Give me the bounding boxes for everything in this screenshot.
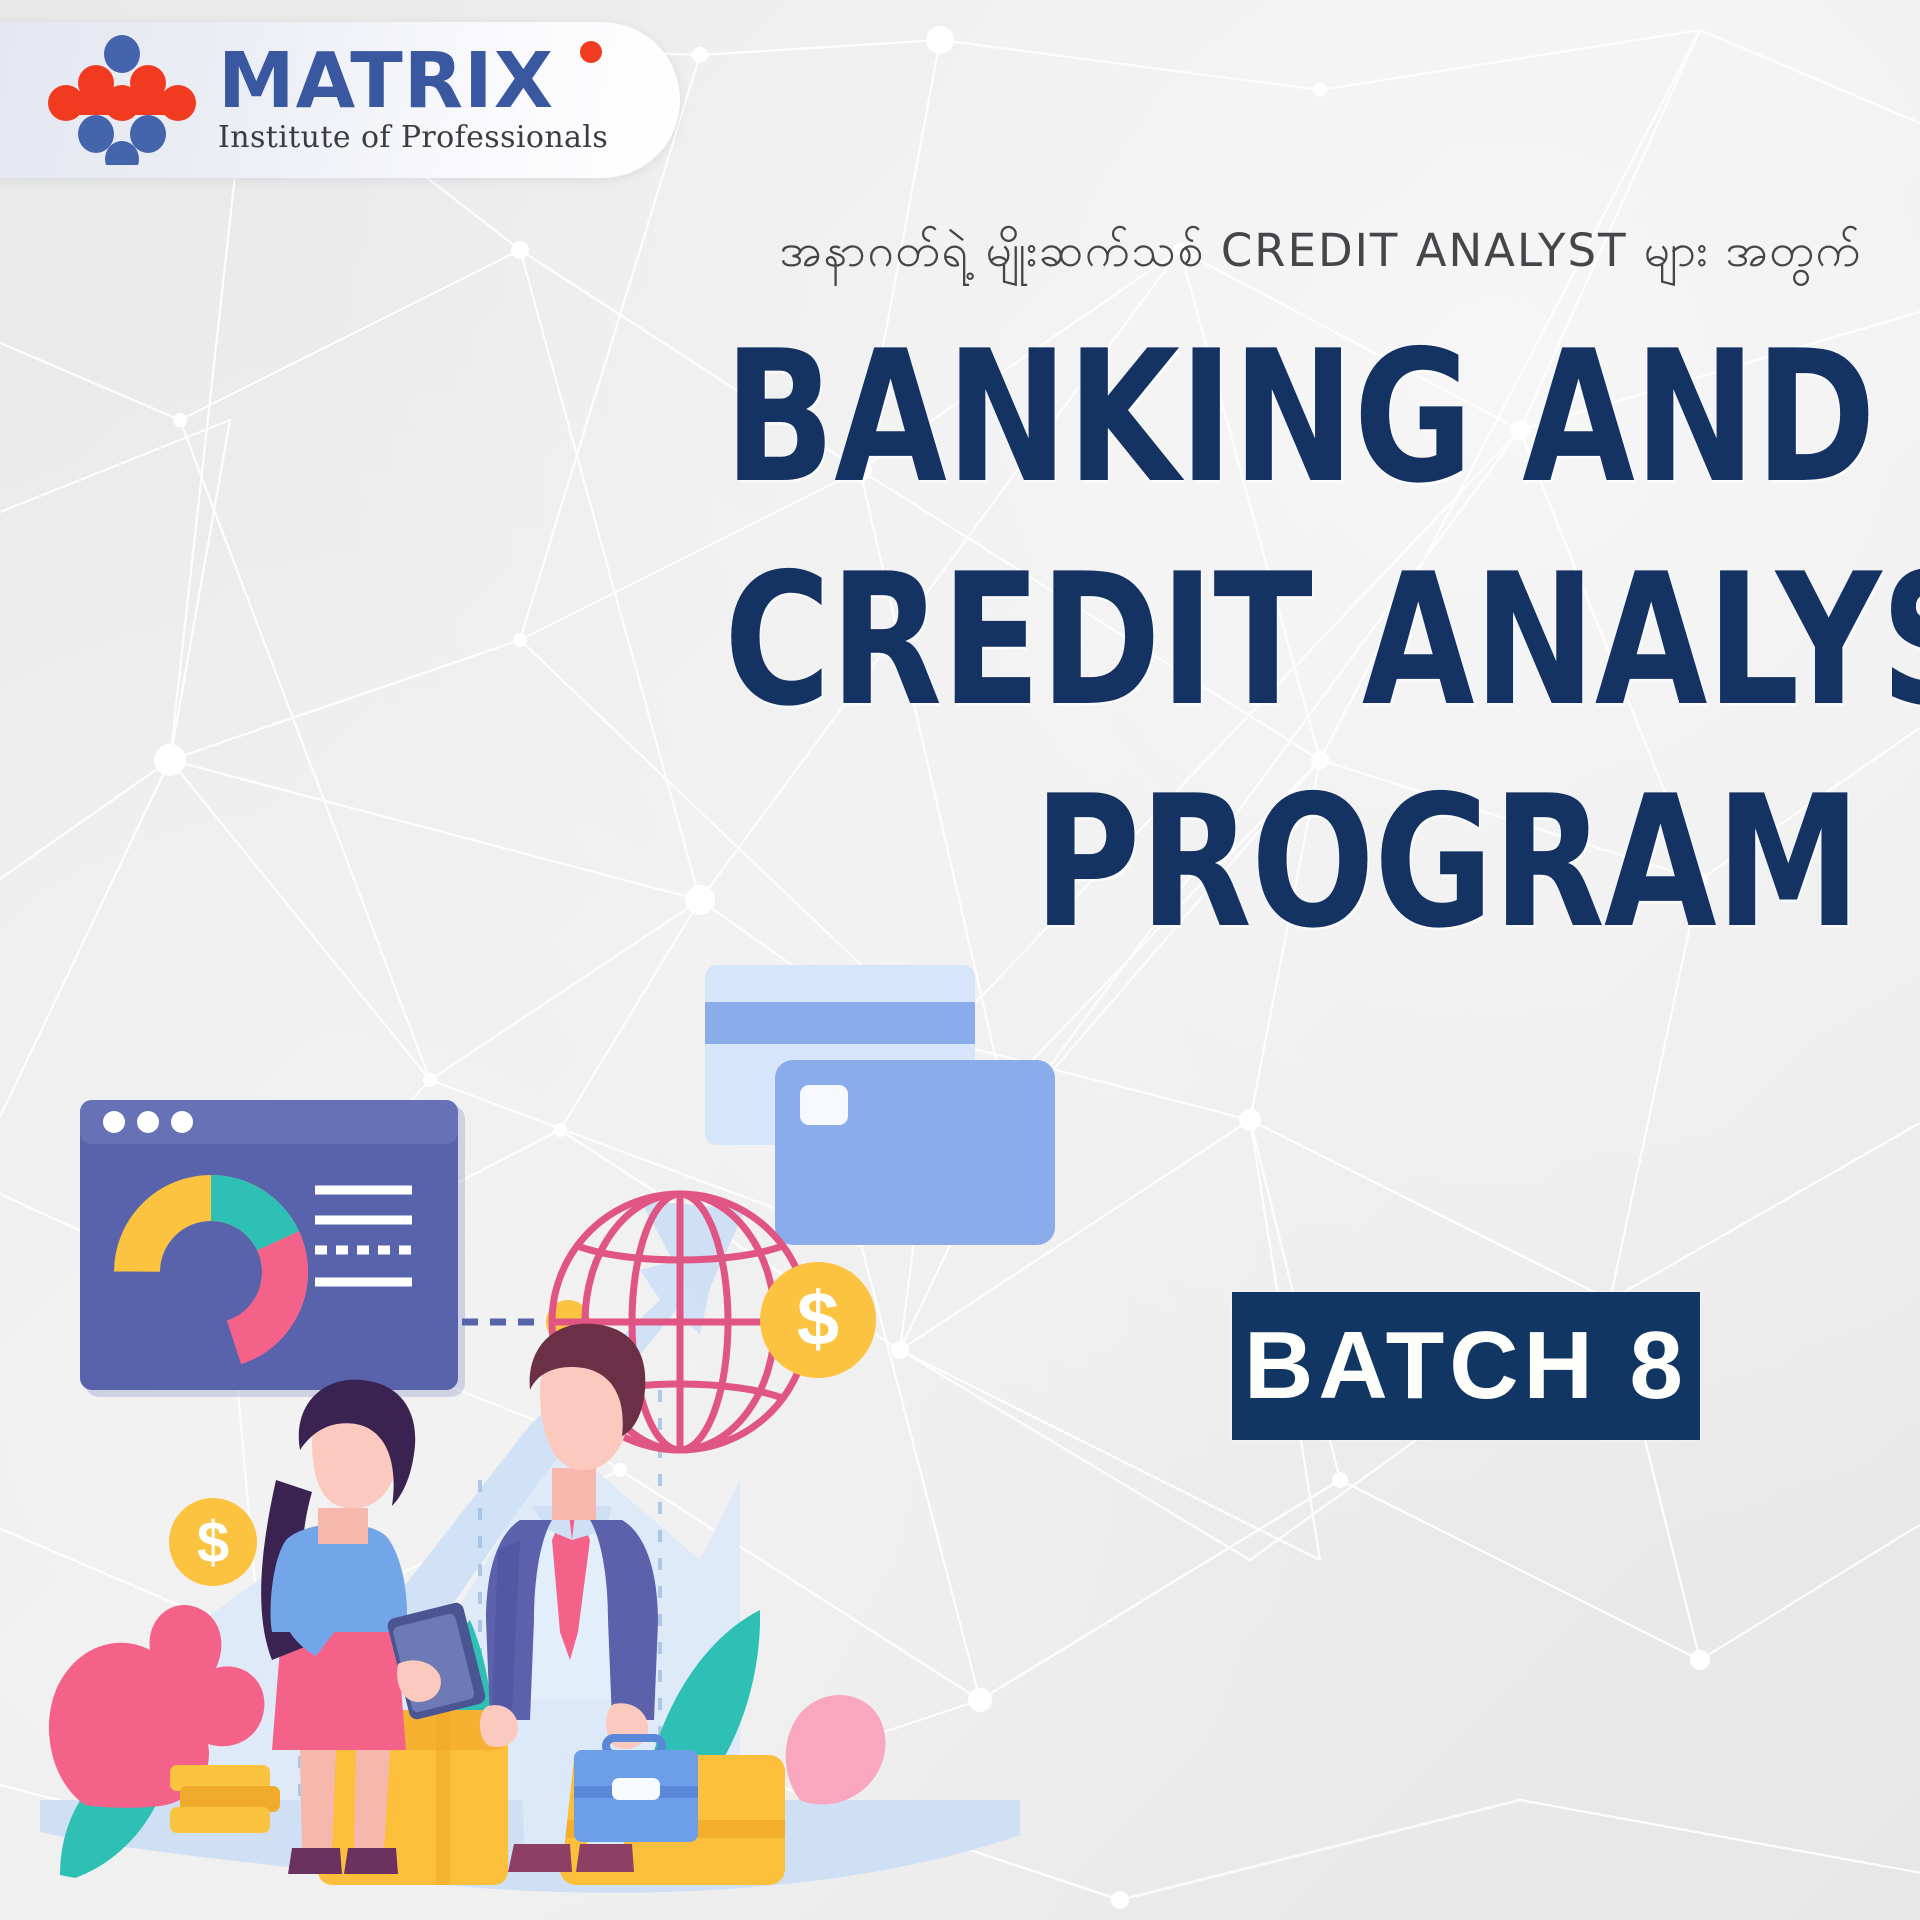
woman-leg-right [354, 1750, 390, 1852]
analytics-dashboard-window [80, 1100, 465, 1397]
brand-name: MATRIX [218, 45, 608, 119]
brand-logo-pill: MATRIX Institute of Professionals [0, 22, 680, 178]
logo-red-dot-icon [580, 41, 602, 63]
woman-leg-left [300, 1750, 336, 1852]
tagline-english: CREDIT ANALYST [1221, 224, 1628, 277]
window-dots [103, 1111, 193, 1133]
dollar-coin-small-icon: $ [169, 1498, 257, 1586]
headline-line-1: BANKING AND [724, 330, 1860, 505]
svg-text:$: $ [197, 1510, 229, 1575]
woman-neck [318, 1508, 368, 1544]
dollar-coin-large-icon: $ [760, 1262, 876, 1378]
batch-badge-label: BATCH 8 [1244, 1311, 1688, 1421]
poster-canvas: MATRIX Institute of Professionals အနာဂတ်… [0, 0, 1920, 1920]
page-title: BANKING AND CREDIT ANALYST PROGRAM [440, 330, 1860, 950]
man-shoe-left [508, 1844, 572, 1872]
finance-analytics-illustration: $ [0, 920, 1060, 1920]
man-neck [552, 1468, 596, 1520]
coin-stack-icon [170, 1765, 280, 1833]
credit-card-front-icon [775, 1060, 1055, 1245]
tagline-burmese-after: များ အတွက် [1644, 223, 1862, 277]
briefcase-icon [574, 1738, 698, 1842]
tagline: အနာဂတ်ရဲ့ မျိုးဆက်သစ် CREDIT ANALYST မျာ… [0, 222, 1862, 289]
svg-text:$: $ [797, 1277, 839, 1362]
man-shoe-right [576, 1844, 634, 1872]
woman-shoe-right [344, 1848, 398, 1874]
leaf-pink-right-icon [786, 1695, 886, 1804]
headline-line-2: CREDIT ANALYST [724, 553, 1860, 728]
brand-name-text: MATRIX [218, 37, 554, 126]
brand-wordmark: MATRIX Institute of Professionals [218, 45, 608, 156]
matrix-molecule-logo-icon [48, 35, 196, 165]
status-badge: BATCH 8 [1232, 1292, 1700, 1440]
woman-shoe-left [288, 1848, 342, 1874]
tagline-burmese-before: အနာဂတ်ရဲ့ မျိုးဆက်သစ် [780, 223, 1205, 277]
brand-subtitle: Institute of Professionals [218, 120, 608, 155]
